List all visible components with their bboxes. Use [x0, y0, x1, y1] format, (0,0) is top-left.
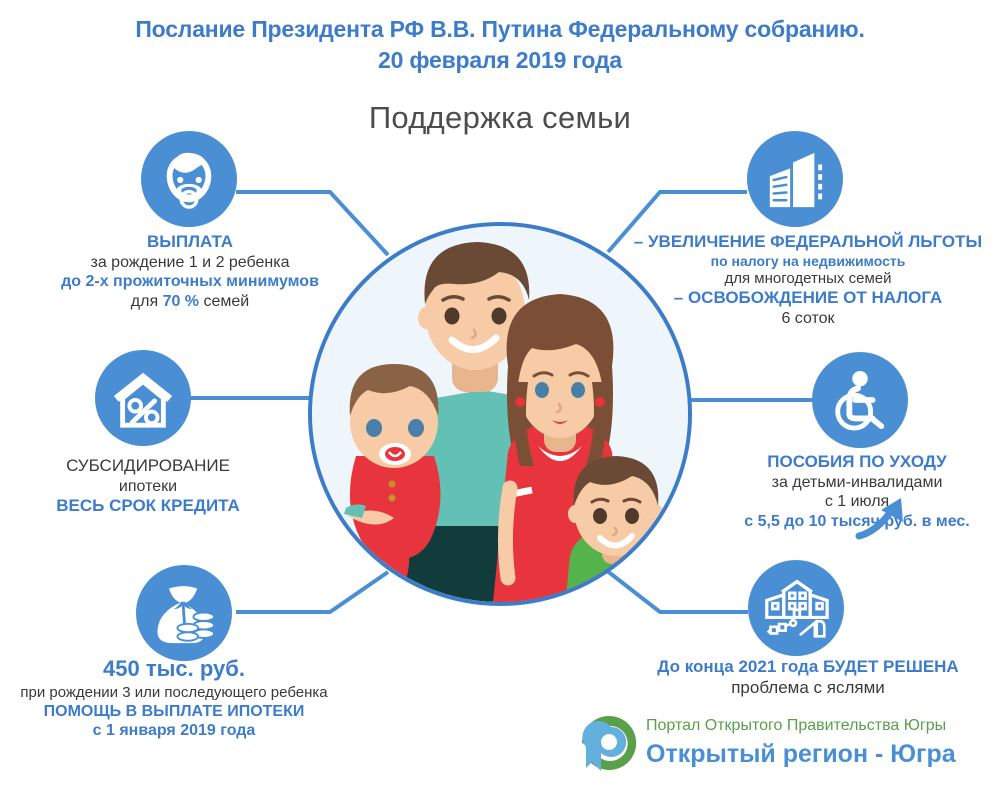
- four-fifty-line-3: ПОМОЩЬ В ВЫПЛАТЕ ИПОТЕКИ: [6, 702, 342, 722]
- logo[interactable]: Портал Открытого Правительства Югры Откр…: [578, 711, 998, 783]
- four-fifty-line-2: при рождении 3 или последующего ребенка: [6, 684, 342, 702]
- up-arrow-icon: [855, 496, 911, 540]
- block-payment: ВЫПЛАТА за рождение 1 и 2 ребенка до 2-х…: [25, 232, 355, 311]
- payment-line-1: ВЫПЛАТА: [25, 232, 355, 253]
- block-four-fifty: 450 тыс. руб. при рождении 3 или последу…: [6, 655, 342, 741]
- block-mortgage: СУБСИДИРОВАНИЕ ипотеки ВЕСЬ СРОК КРЕДИТА: [18, 456, 278, 517]
- logo-line-2: Открытый регион - Югра: [646, 740, 956, 769]
- money-bag-coins-glyph: [152, 582, 216, 644]
- kindergarten-playground-icon: [748, 560, 844, 656]
- disability-line-1: ПОСОБИЯ ПО УХОДУ: [718, 452, 996, 473]
- tax-line-5: 6 соток: [622, 309, 994, 329]
- payment-line-3: до 2-х прожиточных минимумов: [25, 272, 355, 292]
- disability-line-2: за детьми-инвалидами: [718, 473, 996, 493]
- tax-line-2: по налогу на недвижимость: [622, 253, 994, 270]
- house-percent-glyph: [111, 368, 175, 428]
- mortgage-line-2: ипотеки: [18, 477, 278, 497]
- logo-line-1: Портал Открытого Правительства Югры: [646, 717, 946, 735]
- block-nursery: До конца 2021 года БУДЕТ РЕШЕНА проблема…: [646, 657, 970, 698]
- open-government-p-logo: [578, 713, 640, 779]
- baby-pacifier-glyph: [158, 148, 220, 210]
- tax-line-1: – УВЕЛИЧЕНИЕ ФЕДЕРАЛЬНОЙ ЛЬГОТЫ: [622, 232, 994, 253]
- buildings-glyph: [764, 149, 826, 209]
- block-tax: – УВЕЛИЧЕНИЕ ФЕДЕРАЛЬНОЙ ЛЬГОТЫ по налог…: [622, 232, 994, 328]
- kindergarten-playground-glyph: [763, 577, 829, 639]
- money-bag-coins-icon: [136, 565, 232, 661]
- nursery-line-2: проблема с яслями: [646, 678, 970, 699]
- tax-line-3: для многодетных семей: [622, 270, 994, 288]
- buildings-icon: [747, 131, 843, 227]
- infographic-root: Послание Президента РФ В.В. Путина Федер…: [0, 0, 1000, 789]
- four-fifty-line-4: с 1 января 2019 года: [6, 721, 342, 741]
- wheelchair-glyph: [829, 369, 891, 431]
- house-percent-icon: [95, 350, 191, 446]
- payment-line-2: за рождение 1 и 2 ребенка: [25, 253, 355, 273]
- four-fifty-line-1: 450 тыс. руб.: [6, 655, 342, 684]
- nursery-line-1: До конца 2021 года БУДЕТ РЕШЕНА: [646, 657, 970, 678]
- baby-pacifier-icon: [141, 131, 237, 227]
- payment-line-4: для 70 % семей: [25, 292, 355, 312]
- wheelchair-icon: [812, 352, 908, 448]
- tax-line-4: – ОСВОБОЖДЕНИЕ ОТ НАЛОГА: [622, 288, 994, 309]
- mortgage-line-3: ВЕСЬ СРОК КРЕДИТА: [18, 496, 278, 517]
- mortgage-line-1: СУБСИДИРОВАНИЕ: [18, 456, 278, 477]
